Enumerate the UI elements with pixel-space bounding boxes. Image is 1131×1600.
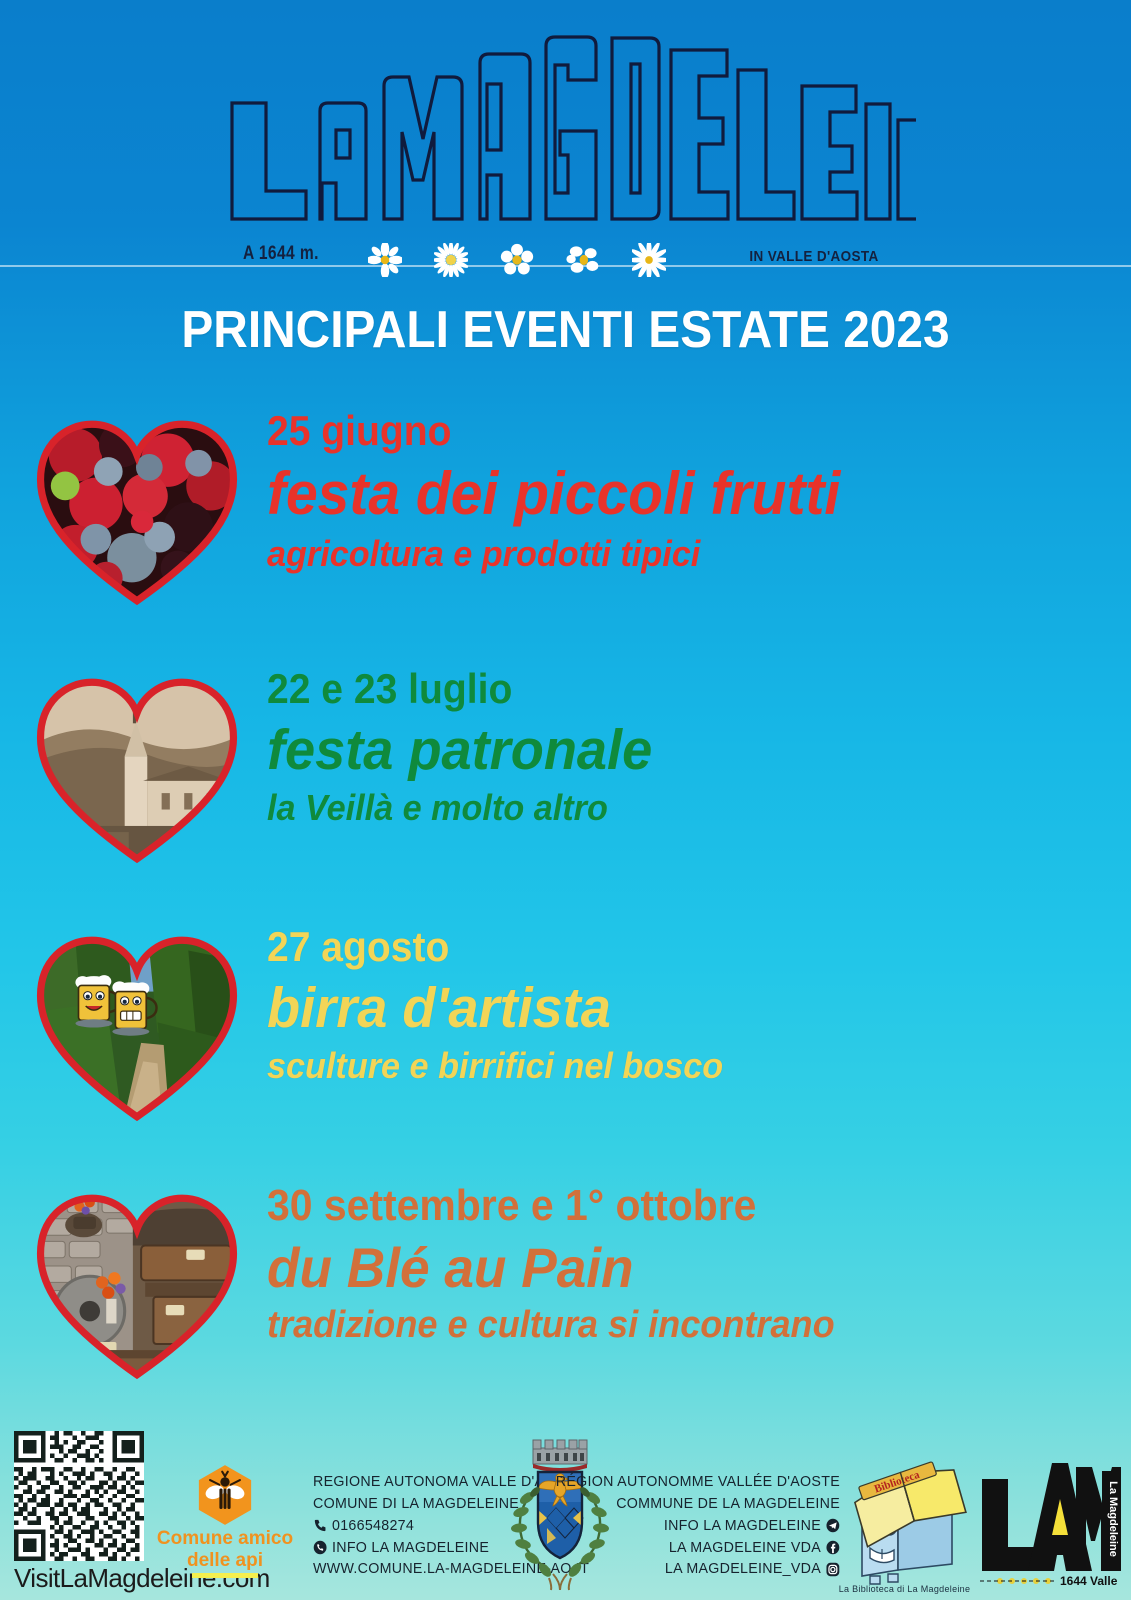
bee-hexagon-icon [197,1464,253,1526]
event-text: 22 e 23 luglio festa patronale la Veillà… [255,654,672,828]
event-name: festa patronale [267,720,652,780]
flower-row [368,243,666,277]
bee-badge-line2: delle api [140,1550,310,1571]
instagram-line[interactable]: LA MAGDELEINE_VDA [636,1558,840,1580]
facebook-line[interactable]: LA MAGDELEINE VDA [636,1537,840,1559]
flower-daisy-icon [434,243,468,277]
facebook-handle: LA MAGDELEINE VDA [669,1537,821,1559]
flower-anemone-icon [500,243,534,277]
logo-wordmark: .ol { fill: none; stroke: #101b3d; strok… [216,8,916,258]
bee-badge-line1: Comune amico [140,1528,310,1549]
flower-star-icon [632,243,666,277]
flower-buttercup-icon [566,243,600,277]
poster-footer: VisitLaMagdeleine.com [0,1415,1131,1600]
whatsapp-icon [313,1540,327,1555]
coat-of-arms [505,1432,615,1592]
event-image-wrap [0,1170,255,1400]
heart-mill-bread-image [32,1188,242,1383]
heart-vintage-church-image [32,672,242,867]
whatsapp-contact: INFO LA MAGDELEINE [332,1537,489,1559]
page-title: PRINCIPALI EVENTI ESTATE 2023 [45,300,1086,360]
poster: .ol { fill: none; stroke: #101b3d; strok… [0,0,1131,1600]
event-name: festa dei piccoli frutti [267,462,840,526]
heart-berries-image [32,414,242,609]
qr-code[interactable] [14,1431,144,1561]
event-row: 22 e 23 luglio festa patronale la Veillà… [0,654,1131,912]
poster-header: .ol { fill: none; stroke: #101b3d; strok… [0,0,1131,290]
event-date: 25 giugno [267,410,828,452]
event-subtitle: la Veillà e molto altro [267,788,652,828]
lam-logo: La Magdeleine 1644 Valle d'Aosta [976,1453,1121,1588]
heart-forest-beer-image [32,930,242,1125]
telegram-handle: INFO LA MAGDELEINE [664,1515,821,1537]
events-list: 25 giugno festa dei piccoli frutti agric… [0,396,1131,1428]
telegram-icon [826,1518,840,1533]
event-text: 25 giugno festa dei piccoli frutti agric… [255,396,870,573]
region-label: IN VALLE D'AOSTA [750,248,879,265]
event-text: 30 settembre e 1° ottobre du Blé au Pain… [255,1170,865,1347]
event-row: 27 agosto birra d'artista sculture e bir… [0,912,1131,1170]
event-text: 27 agosto birra d'artista sculture e bir… [255,912,747,1086]
lam-tagline: 1644 Valle d'Aosta [1060,1574,1121,1588]
bee-badge-underline [192,1573,258,1578]
region-name-fr: RÉGION AUTONOMME VALLÉE D'AOSTE [636,1471,840,1493]
lam-vertical-label: La Magdeleine [1107,1481,1119,1557]
phone-number: 0166548274 [332,1515,414,1537]
event-subtitle: sculture e birrifici nel bosco [267,1046,723,1086]
facebook-icon [826,1540,840,1555]
event-name: birra d'artista [267,978,723,1038]
instagram-handle: LA MAGDELEINE_VDA [665,1558,821,1580]
phone-icon [313,1518,327,1533]
instagram-icon [826,1562,840,1577]
event-date: 22 e 23 luglio [267,668,644,710]
altitude-label: A 1644 m. [243,243,319,265]
event-row: 25 giugno festa dei piccoli frutti agric… [0,396,1131,654]
flower-edelweiss-icon [368,243,402,277]
event-subtitle: agricoltura e prodotti tipici [267,534,840,574]
header-divider [0,265,1131,267]
event-image-wrap [0,396,255,626]
event-image-wrap [0,912,255,1142]
event-image-wrap [0,654,255,884]
event-row: 30 settembre e 1° ottobre du Blé au Pain… [0,1170,1131,1428]
commune-name-fr: COMMUNE DE LA MAGDELEINE [636,1493,840,1515]
address-block-french: RÉGION AUTONOMME VALLÉE D'AOSTE COMMUNE … [636,1471,840,1580]
bee-badge: Comune amico delle api [140,1464,310,1578]
event-subtitle: tradizione e cultura si incontrano [267,1305,835,1347]
event-date: 27 agosto [267,926,714,968]
event-name: du Blé au Pain [267,1238,835,1297]
library-logo: Biblioteca [840,1448,970,1588]
library-caption: La Biblioteca di La Magdeleine [832,1584,977,1594]
telegram-line[interactable]: INFO LA MAGDELEINE [636,1515,840,1537]
event-date: 30 settembre e 1° ottobre [267,1184,823,1228]
